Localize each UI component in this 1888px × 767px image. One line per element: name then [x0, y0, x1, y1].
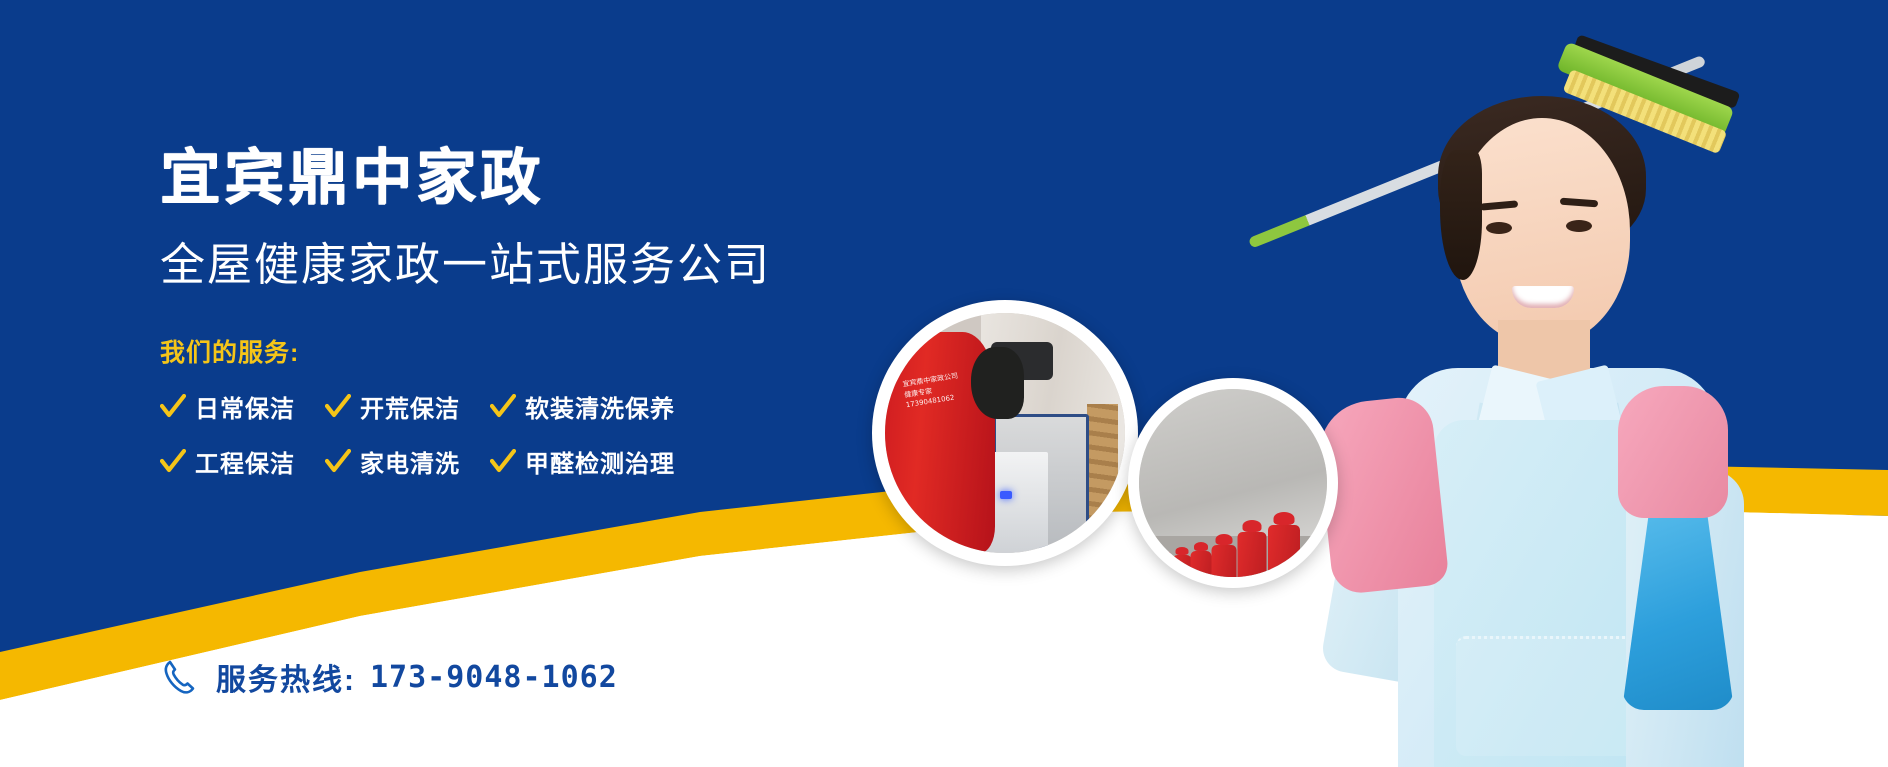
service-label: 家电清洗 [360, 444, 460, 479]
service-label: 工程保洁 [195, 444, 295, 479]
company-subtitle: 全屋健康家政一站式服务公司 [160, 242, 771, 287]
service-label: 开荒保洁 [360, 389, 460, 424]
check-icon [325, 449, 351, 475]
check-icon [490, 394, 516, 420]
company-title: 宜宾鼎中家政 [160, 148, 771, 208]
model-hair-side [1440, 150, 1482, 280]
services-label: 我们的服务: [160, 333, 771, 369]
hotline-label: 服务热线: [216, 655, 356, 699]
equipment-photo: 宜宾鼎中家政公司 健康专家 17390481062 [872, 300, 1138, 566]
service-row-2: 工程保洁 家电清洗 甲醛检测治理 [160, 444, 771, 479]
check-icon [325, 394, 351, 420]
service-item[interactable]: 软装清洗保养 [490, 389, 675, 424]
hotline-number[interactable]: 173-9048-1062 [370, 660, 618, 695]
check-icon [160, 394, 186, 420]
service-label: 软装清洗保养 [525, 389, 675, 424]
banner-text-column: 宜宾鼎中家政 全屋健康家政一站式服务公司 我们的服务: 日常保洁 开荒保洁 [160, 0, 771, 479]
model-mouth [1512, 286, 1574, 308]
service-label: 日常保洁 [195, 389, 295, 424]
check-icon [490, 449, 516, 475]
service-item[interactable]: 家电清洗 [325, 444, 460, 479]
service-item[interactable]: 开荒保洁 [325, 389, 460, 424]
service-item[interactable]: 工程保洁 [160, 444, 295, 479]
service-row-1: 日常保洁 开荒保洁 软装清洗保养 [160, 389, 771, 424]
service-item[interactable]: 甲醛检测治理 [490, 444, 675, 479]
pink-glove-right [1618, 386, 1728, 518]
model-eye-left [1486, 222, 1512, 234]
check-icon [160, 449, 186, 475]
hotline-block[interactable]: 服务热线: 173-9048-1062 [160, 655, 618, 699]
phone-icon [160, 657, 200, 697]
team-photo [1128, 378, 1338, 588]
homecare-service-banner: 宜宾鼎中家政公司 健康专家 17390481062 宜宾鼎 [0, 0, 1888, 767]
service-label: 甲醛检测治理 [525, 444, 675, 479]
model-eye-right [1566, 220, 1592, 232]
service-item[interactable]: 日常保洁 [160, 389, 295, 424]
cleaner-model [1330, 0, 1888, 767]
